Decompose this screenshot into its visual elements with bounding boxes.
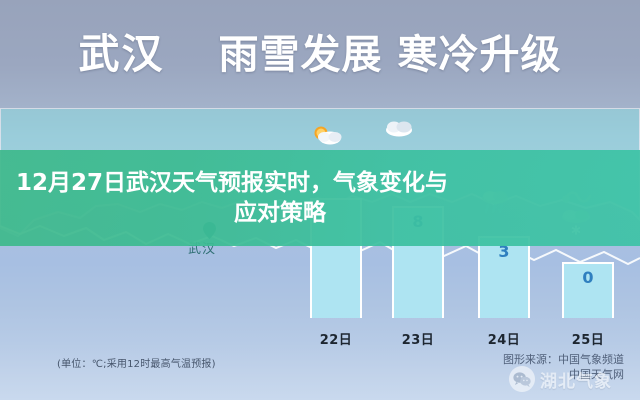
chart-unit-note: (单位：℃;采用12时最高气温预报) bbox=[57, 355, 216, 370]
bar-24: 3 bbox=[478, 236, 530, 318]
bar-label-0: 22日 bbox=[304, 329, 368, 348]
bar-group-3: 0 25日 bbox=[562, 262, 614, 318]
wechat-icon bbox=[509, 366, 535, 392]
title-overlay-text: 12月27日武汉天气预报实时，气象变化与 应对策略 bbox=[0, 152, 640, 244]
weather-forecast-graphic: 武汉 雨雪发展 寒冷升级 武汉 bbox=[0, 0, 640, 400]
wechat-watermark: 湖北气象 bbox=[509, 366, 612, 392]
bar-25: 0 bbox=[562, 262, 614, 318]
headline-banner: 武汉 雨雪发展 寒冷升级 bbox=[0, 0, 640, 108]
bar-label-2: 24日 bbox=[472, 329, 536, 348]
bar-label-3: 25日 bbox=[556, 329, 620, 348]
cloud-icon bbox=[382, 114, 416, 140]
bar-value-3: 0 bbox=[564, 268, 612, 287]
overlay-line-2: 应对策略 bbox=[16, 198, 618, 228]
bar-label-1: 23日 bbox=[386, 329, 450, 348]
credit-line-1: 图形来源：中国气象频道 bbox=[503, 352, 624, 367]
watermark-label: 湖北气象 bbox=[540, 367, 612, 392]
headline-banner-inner: 武汉 雨雪发展 寒冷升级 bbox=[0, 20, 640, 80]
overlay-line-1: 12月27日武汉天气预报实时，气象变化与 bbox=[16, 168, 618, 198]
banner-city-name: 武汉 bbox=[79, 20, 165, 80]
sun-behind-cloud-icon bbox=[311, 122, 345, 148]
banner-headline: 雨雪发展 寒冷升级 bbox=[219, 22, 562, 80]
bar-group-2: 3 24日 bbox=[478, 236, 530, 318]
